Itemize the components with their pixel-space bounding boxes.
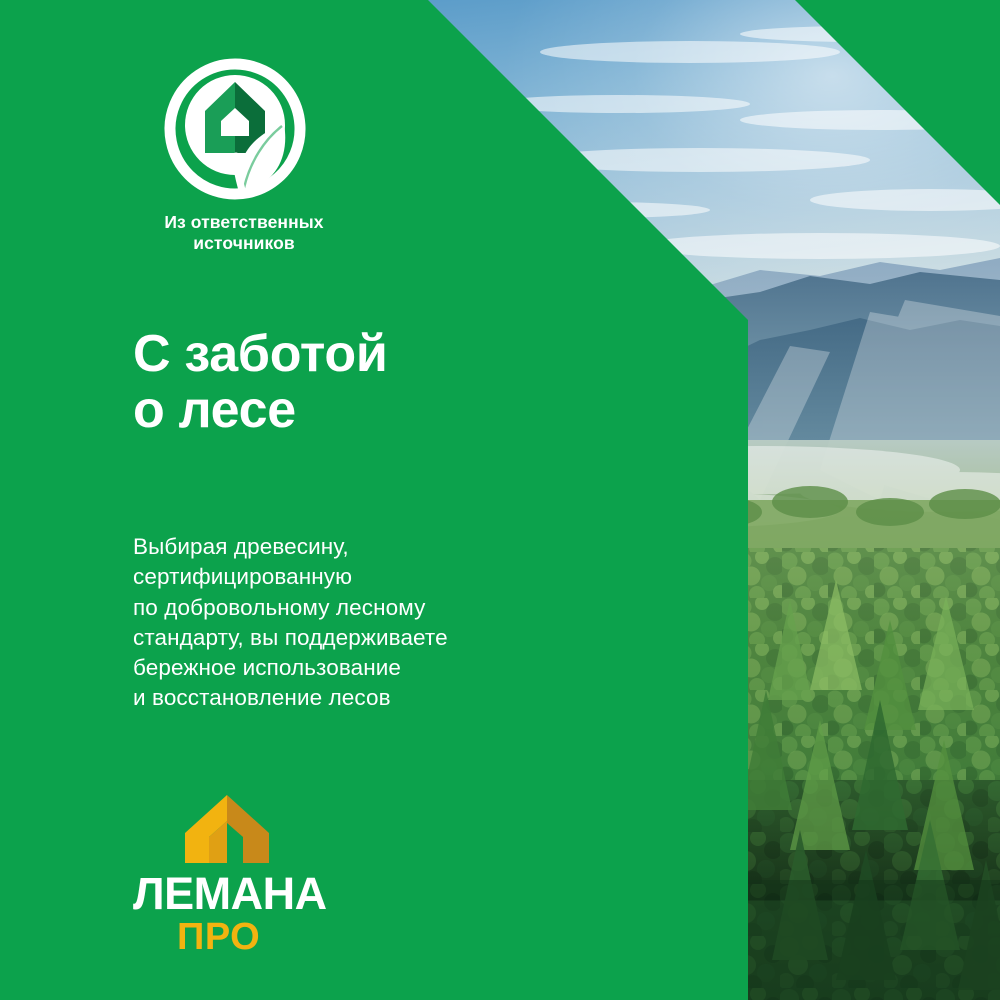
- lemana-house-icon: [181, 793, 273, 865]
- page-title: С заботой о лесе: [133, 327, 387, 438]
- house-leaf-circle-icon: [164, 58, 306, 200]
- brand-subname: ПРО: [177, 918, 333, 956]
- brand-name: ЛЕМАНА: [133, 871, 333, 916]
- responsible-sources-badge: Из ответственных источников: [133, 58, 393, 255]
- badge-caption: Из ответственных источников: [133, 212, 355, 255]
- poster-content: Из ответственных источников С заботой о …: [0, 0, 1000, 1000]
- poster-canvas: Из ответственных источников С заботой о …: [0, 0, 1000, 1000]
- body-paragraph: Выбирая древесину, сертифицированную по …: [133, 532, 448, 714]
- brand-lockup: ЛЕМАНА ПРО: [133, 793, 333, 956]
